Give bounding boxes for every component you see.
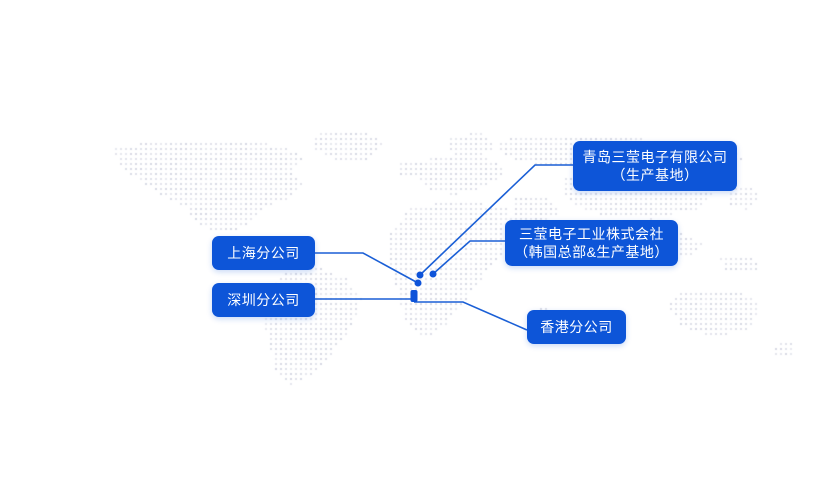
label-shanghai-line1: 上海分公司 [227,244,300,262]
connector-lines [0,0,824,480]
marker-dot-shenzhen[interactable] [411,290,418,302]
connector-line-shanghai [315,253,418,283]
label-box-hongkong[interactable]: 香港分公司 [527,310,626,344]
label-korea-line1: 三莹电子工业株式会社 [519,225,664,243]
label-shenzhen-line1: 深圳分公司 [227,291,300,309]
label-qingdao-line2: （生产基地） [612,166,699,184]
marker-dot-shanghai[interactable] [415,280,422,287]
world-map-infographic: 青岛三莹电子有限公司 （生产基地） 三莹电子工业株式会社 （韩国总部&生产基地）… [0,0,824,480]
label-hongkong-line1: 香港分公司 [540,318,613,336]
connector-line-korea [433,241,505,274]
label-box-qingdao[interactable]: 青岛三莹电子有限公司 （生产基地） [573,141,737,191]
marker-dot-korea[interactable] [430,271,437,278]
label-qingdao-line1: 青岛三莹电子有限公司 [583,148,728,166]
label-box-korea[interactable]: 三莹电子工业株式会社 （韩国总部&生产基地） [505,220,678,266]
label-korea-line2: （韩国总部&生产基地） [514,243,669,261]
connector-line-hongkong [414,302,527,330]
marker-dot-qingdao[interactable] [417,272,424,279]
label-box-shanghai[interactable]: 上海分公司 [212,236,315,270]
label-box-shenzhen[interactable]: 深圳分公司 [212,283,315,317]
